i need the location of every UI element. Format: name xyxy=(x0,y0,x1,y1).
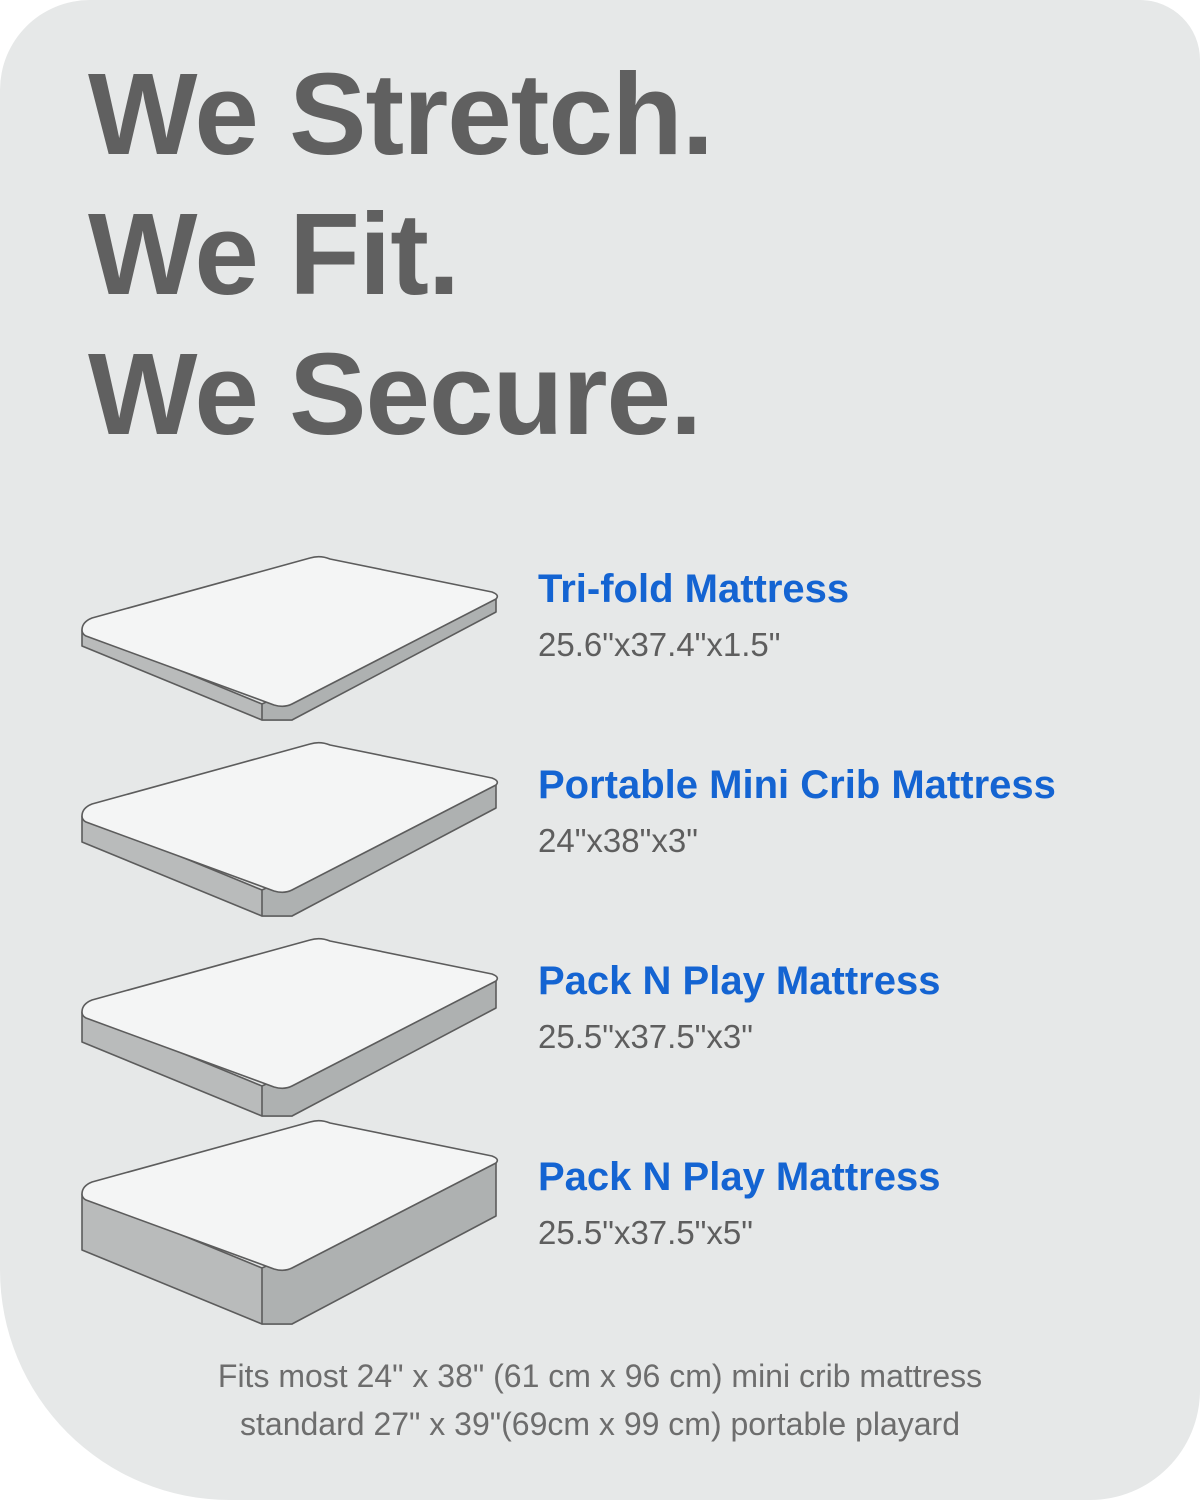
mattress-isometric-icon xyxy=(62,552,522,752)
headline-line-3: We Secure. xyxy=(88,324,1088,464)
product-title: Pack N Play Mattress xyxy=(538,1154,1188,1200)
product-list: Tri-fold Mattress 25.6"x37.4"x1.5" Porta… xyxy=(0,524,1200,1324)
footer-line-2: standard 27" x 39"(69cm x 99 cm) portabl… xyxy=(0,1400,1200,1448)
infographic-poster: We Stretch. We Fit. We Secure. Tri-fold … xyxy=(0,0,1200,1500)
product-title: Pack N Play Mattress xyxy=(538,958,1188,1004)
footer-note: Fits most 24" x 38" (61 cm x 96 cm) mini… xyxy=(0,1352,1200,1448)
product-dimensions: 25.5"x37.5"x5" xyxy=(538,1214,1188,1252)
mattress-isometric-icon xyxy=(62,738,522,938)
list-item: Pack N Play Mattress 25.5"x37.5"x3" xyxy=(0,924,1200,1124)
headline-line-1: We Stretch. xyxy=(88,44,1088,184)
product-title: Portable Mini Crib Mattress xyxy=(538,762,1188,808)
product-text-block: Pack N Play Mattress 25.5"x37.5"x5" xyxy=(538,1154,1188,1354)
list-item: Tri-fold Mattress 25.6"x37.4"x1.5" xyxy=(0,524,1200,724)
product-dimensions: 25.6"x37.4"x1.5" xyxy=(538,626,1188,664)
headline-line-2: We Fit. xyxy=(88,184,1088,324)
product-title: Tri-fold Mattress xyxy=(538,566,1188,612)
mattress-isometric-icon xyxy=(62,1116,522,1316)
mattress-isometric-icon xyxy=(62,934,522,1134)
list-item: Portable Mini Crib Mattress 24"x38"x3" xyxy=(0,724,1200,924)
product-dimensions: 24"x38"x3" xyxy=(538,822,1188,860)
product-dimensions: 25.5"x37.5"x3" xyxy=(538,1018,1188,1056)
footer-line-1: Fits most 24" x 38" (61 cm x 96 cm) mini… xyxy=(0,1352,1200,1400)
list-item: Pack N Play Mattress 25.5"x37.5"x5" xyxy=(0,1124,1200,1324)
headline-block: We Stretch. We Fit. We Secure. xyxy=(88,44,1088,464)
